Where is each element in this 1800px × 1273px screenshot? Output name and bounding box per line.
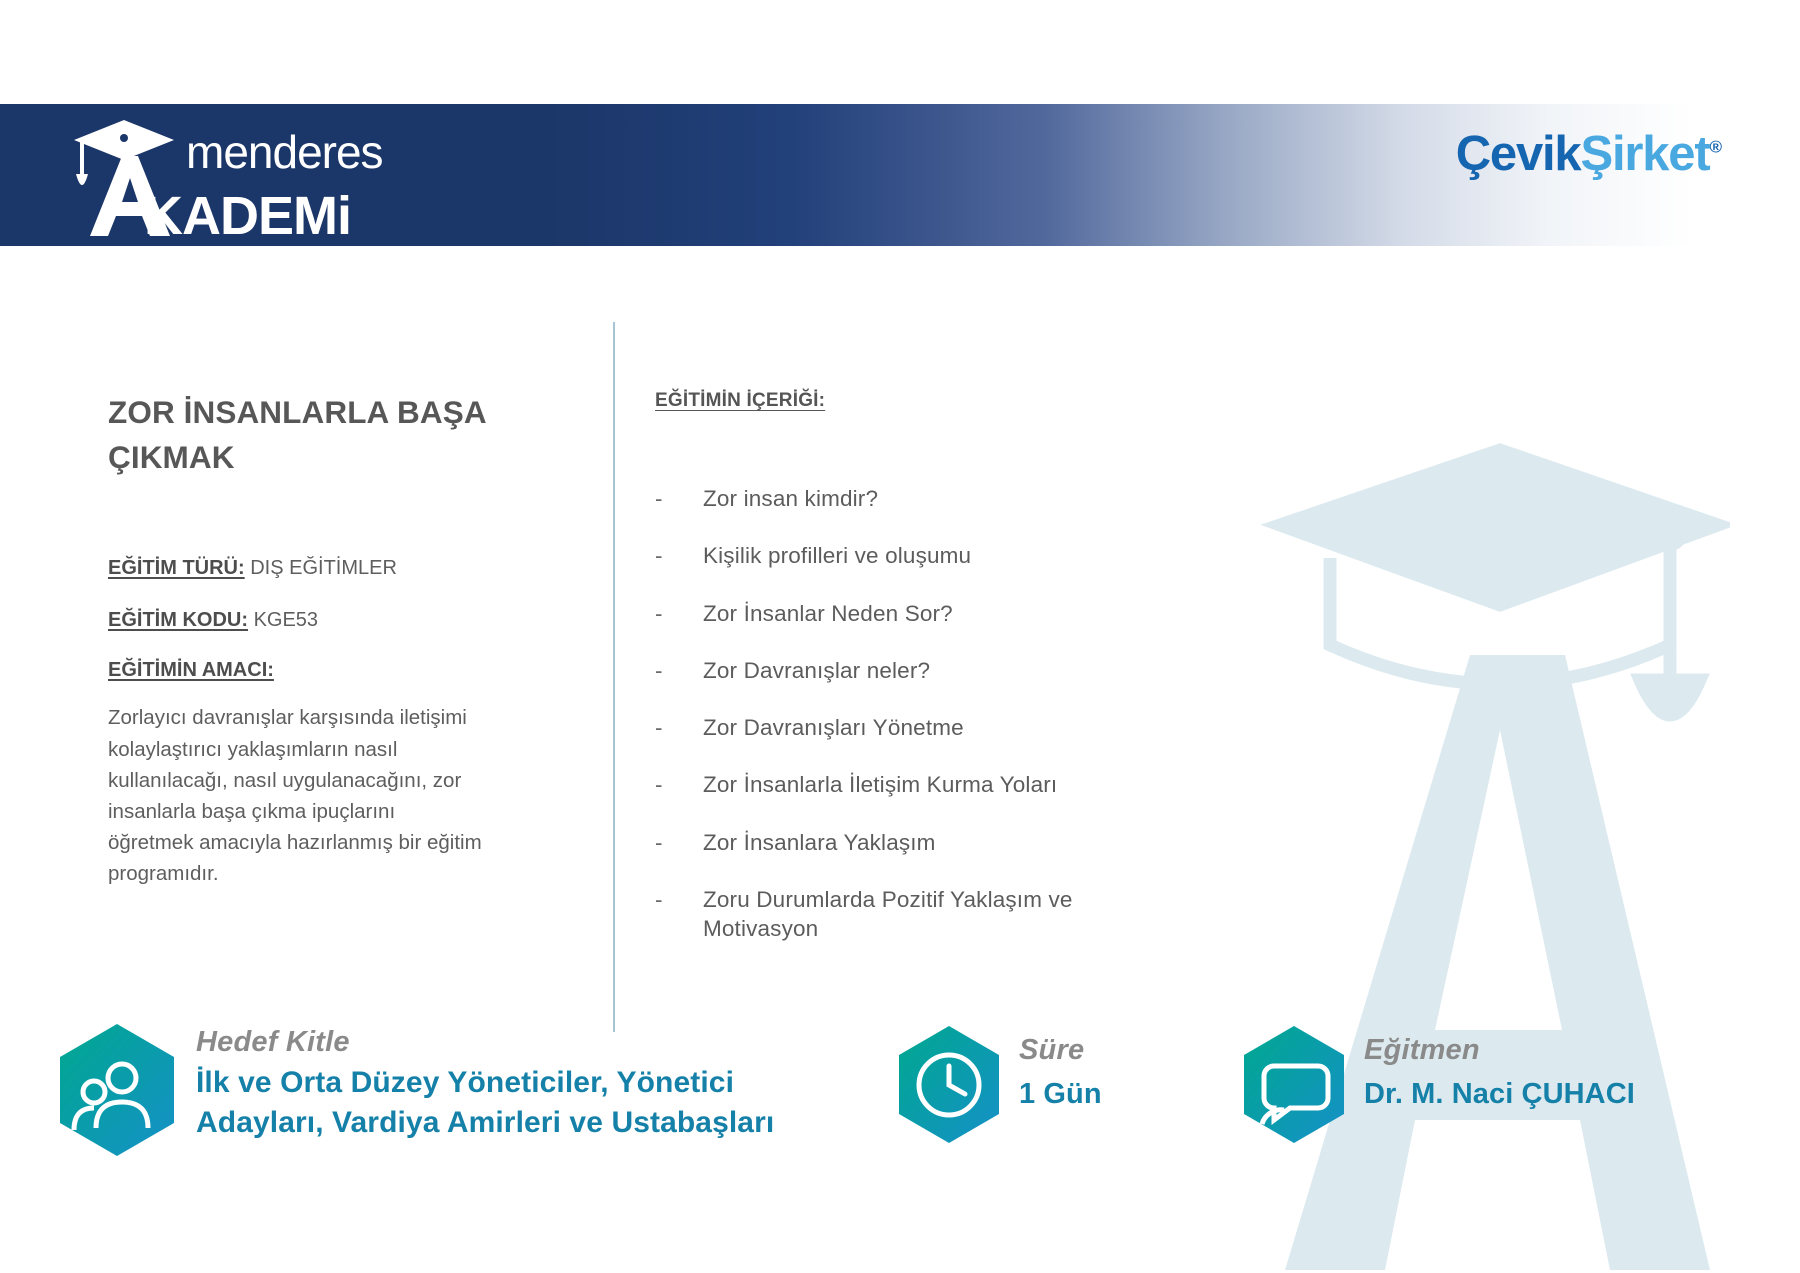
speech-bubble-icon (1240, 1024, 1348, 1146)
course-code-value: KGE53 (254, 609, 318, 631)
course-content-column: EĞİTİMİN İÇERİĞİ: -Zor insan kimdir?-Kiş… (655, 390, 1215, 971)
content-list: -Zor insan kimdir?-Kişilik profilleri ve… (655, 484, 1215, 943)
menderes-akademi-logo: menderes KADEMi (66, 112, 466, 240)
course-purpose-text: Zorlayıcı davranışlar karşısında iletişi… (108, 702, 483, 889)
duration-label: Süre (1019, 1034, 1102, 1067)
bullet-dash-icon: - (655, 828, 703, 857)
duration-hex (895, 1024, 1003, 1151)
course-type-row: EĞİTİM TÜRÜ: DIŞ EĞİTİMLER (108, 555, 528, 581)
slide-page: menderes KADEMi ÇevikŞirket® ZOR İNSANLA… (0, 0, 1800, 1273)
bullet-dash-icon: - (655, 713, 703, 742)
list-item: -Zor İnsanlara Yaklaşım (655, 828, 1215, 857)
list-item: -Zoru Durumlarda Pozitif Yaklaşım ve Mot… (655, 885, 1215, 944)
course-type-label: EĞİTİM TÜRÜ: (108, 557, 245, 579)
list-item: -Zor Davranışları Yönetme (655, 713, 1215, 742)
list-item: -Zor Davranışlar neler? (655, 656, 1215, 685)
list-item-label: Zoru Durumlarda Pozitif Yaklaşım ve Moti… (703, 885, 1173, 944)
trainer-value: Dr. M. Naci ÇUHACI (1364, 1075, 1635, 1113)
ceviksirket-logo: ÇevikŞirket® (1456, 130, 1722, 179)
bullet-dash-icon: - (655, 599, 703, 628)
list-item-label: Zor Davranışlar neler? (703, 656, 1173, 685)
course-purpose-label: EĞİTİMİN AMACI: (108, 659, 528, 682)
clock-icon (895, 1024, 1003, 1146)
trainer-hex (1240, 1024, 1348, 1151)
course-meta-block: EĞİTİM TÜRÜ: DIŞ EĞİTİMLER EĞİTİM KODU: … (108, 555, 528, 889)
duration-value: 1 Gün (1019, 1075, 1102, 1113)
course-type-value: DIŞ EĞİTİMLER (250, 557, 397, 579)
bullet-dash-icon: - (655, 770, 703, 799)
course-info-column: ZOR İNSANLARLA BAŞA ÇIKMAK EĞİTİM TÜRÜ: … (108, 390, 528, 889)
brand-name-part2: Şirket (1580, 127, 1709, 181)
duration-text: Süre 1 Gün (1019, 1034, 1102, 1114)
trainer-badge: Eğitmen Dr. M. Naci ÇUHACI (1240, 1024, 1635, 1151)
page-title: ZOR İNSANLARLA BAŞA ÇIKMAK (108, 390, 528, 479)
bullet-dash-icon: - (655, 541, 703, 570)
list-item-label: Zor İnsanlar Neden Sor? (703, 599, 1173, 628)
bullet-dash-icon: - (655, 656, 703, 685)
audience-label: Hedef Kitle (196, 1026, 856, 1059)
duration-badge: Süre 1 Gün (895, 1024, 1102, 1151)
audience-hex (56, 1022, 178, 1163)
trainer-text: Eğitmen Dr. M. Naci ÇUHACI (1364, 1034, 1635, 1114)
content-heading: EĞİTİMİN İÇERİĞİ: (655, 390, 1215, 412)
course-code-label: EĞİTİM KODU: (108, 609, 248, 631)
svg-text:menderes: menderes (186, 126, 383, 178)
brand-name-part1: Çevik (1456, 127, 1581, 181)
audience-badge: Hedef Kitle İlk ve Orta Düzey Yöneticile… (56, 1022, 856, 1163)
people-icon (56, 1022, 178, 1158)
column-divider (613, 322, 615, 1032)
list-item: -Zor İnsanlar Neden Sor? (655, 599, 1215, 628)
list-item: -Zor İnsanlarla İletişim Kurma Yoları (655, 770, 1215, 799)
audience-value: İlk ve Orta Düzey Yöneticiler, Yönetici … (196, 1063, 856, 1142)
registered-mark-icon: ® (1709, 138, 1722, 157)
svg-text:KADEMi: KADEMi (144, 186, 351, 240)
list-item: -Zor insan kimdir? (655, 484, 1215, 513)
trainer-label: Eğitmen (1364, 1034, 1635, 1067)
list-item-label: Kişilik profilleri ve oluşumu (703, 541, 1173, 570)
bullet-dash-icon: - (655, 885, 703, 914)
list-item-label: Zor İnsanlara Yaklaşım (703, 828, 1173, 857)
list-item-label: Zor Davranışları Yönetme (703, 713, 1173, 742)
list-item-label: Zor İnsanlarla İletişim Kurma Yoları (703, 770, 1173, 799)
course-code-row: EĞİTİM KODU: KGE53 (108, 607, 528, 633)
bullet-dash-icon: - (655, 484, 703, 513)
audience-text: Hedef Kitle İlk ve Orta Düzey Yöneticile… (196, 1026, 856, 1143)
list-item: -Kişilik profilleri ve oluşumu (655, 541, 1215, 570)
list-item-label: Zor insan kimdir? (703, 484, 1173, 513)
